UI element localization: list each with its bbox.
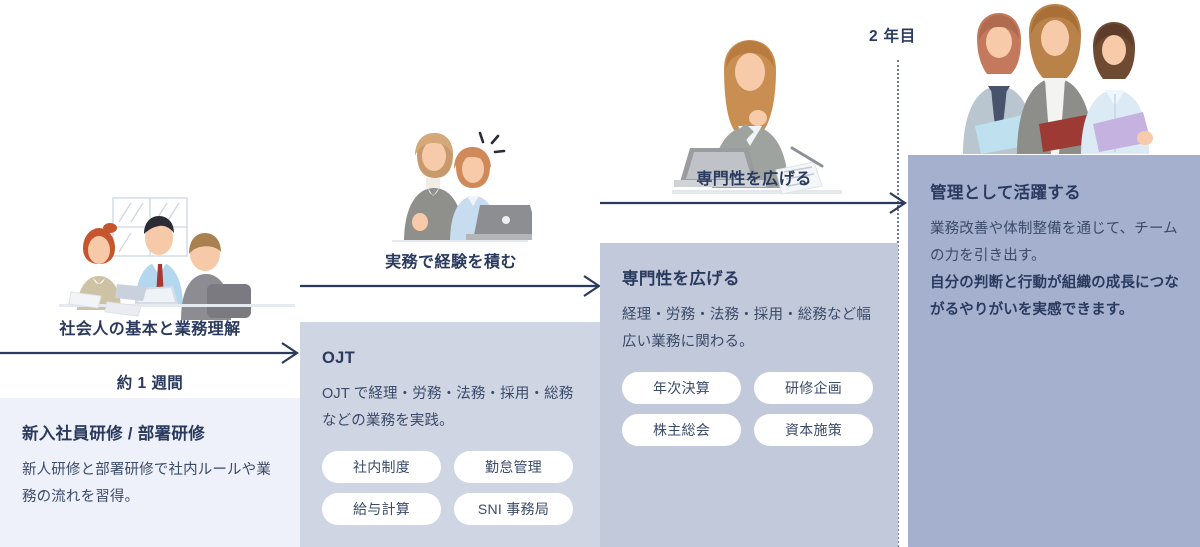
stage-2-chip-3[interactable]: 給与計算	[322, 493, 441, 525]
stage-4-body-emphasis: 自分の判断と行動が組織の成長につながるやりがいを実感できます。	[930, 270, 1180, 324]
stage-3-body: 経理・労務・法務・採用・総務など幅広い業務に関わる。	[622, 302, 878, 356]
stage-2-body: OJT で経理・労務・法務・採用・総務などの業務を実践。	[322, 381, 580, 435]
arrow-stage-1: 社会人の基本と業務理解 約 1 週間	[0, 342, 300, 366]
year-marker-2nd-year: 2 年目	[869, 24, 916, 46]
stage-2-title: OJT	[322, 348, 580, 369]
arrow-label-3: 専門性を広げる	[600, 165, 908, 189]
arrow-line-icon-2	[300, 275, 602, 299]
arrow-line-icon-3	[600, 192, 908, 216]
stage-3-chip-2[interactable]: 研修企画	[754, 372, 873, 404]
stage-2-chip-4[interactable]: SNI 事務局	[454, 493, 573, 525]
stage-2-chip-list: 社内制度 勤怠管理 給与計算 SNI 事務局	[322, 451, 580, 525]
stage-1-title: 新入社員研修 / 部署研修	[22, 424, 280, 445]
two-women-laptop-illustration	[382, 122, 532, 242]
arrow-sublabel-1: 約 1 週間	[0, 371, 300, 393]
stage-3-chip-list: 年次決算 研修企画 株主総会 資本施策	[622, 372, 878, 446]
stage-panel-2: OJT OJT で経理・労務・法務・採用・総務などの業務を実践。 社内制度 勤怠…	[300, 322, 600, 547]
stage-1-body: 新人研修と部署研修で社内ルールや業務の流れを習得。	[22, 457, 280, 511]
stage-3-title: 専門性を広げる	[622, 269, 878, 290]
career-path-roadmap: 2 年目 社会人の基本と業務理解 約 1 週間 実務で経験を積む 専門性を広げる…	[0, 0, 1200, 547]
stage-3-chip-3[interactable]: 株主総会	[622, 414, 741, 446]
stage-2-chip-1[interactable]: 社内制度	[322, 451, 441, 483]
meeting-three-people-illustration	[55, 192, 295, 320]
stage-3-chip-4[interactable]: 資本施策	[754, 414, 873, 446]
stage-panel-3: 専門性を広げる 経理・労務・法務・採用・総務など幅広い業務に関わる。 年次決算 …	[600, 243, 898, 547]
stage-2-chip-2[interactable]: 勤怠管理	[454, 451, 573, 483]
three-women-team-illustration	[955, 2, 1165, 154]
arrow-label-1: 社会人の基本と業務理解	[0, 315, 300, 339]
arrow-line-icon-1	[0, 342, 300, 366]
stage-4-body: 業務改善や体制整備を通じて、チームの力を引き出す。	[930, 216, 1180, 270]
stage-4-title: 管理として活躍する	[930, 183, 1180, 204]
arrow-label-2: 実務で経験を積む	[300, 248, 602, 272]
stage-panel-1: 新入社員研修 / 部署研修 新人研修と部署研修で社内ルールや業務の流れを習得。	[0, 398, 300, 547]
stage-panel-4: 管理として活躍する 業務改善や体制整備を通じて、チームの力を引き出す。 自分の判…	[908, 155, 1200, 547]
stage-3-chip-1[interactable]: 年次決算	[622, 372, 741, 404]
arrow-stage-3: 専門性を広げる	[600, 192, 908, 216]
arrow-stage-2: 実務で経験を積む	[300, 275, 602, 299]
